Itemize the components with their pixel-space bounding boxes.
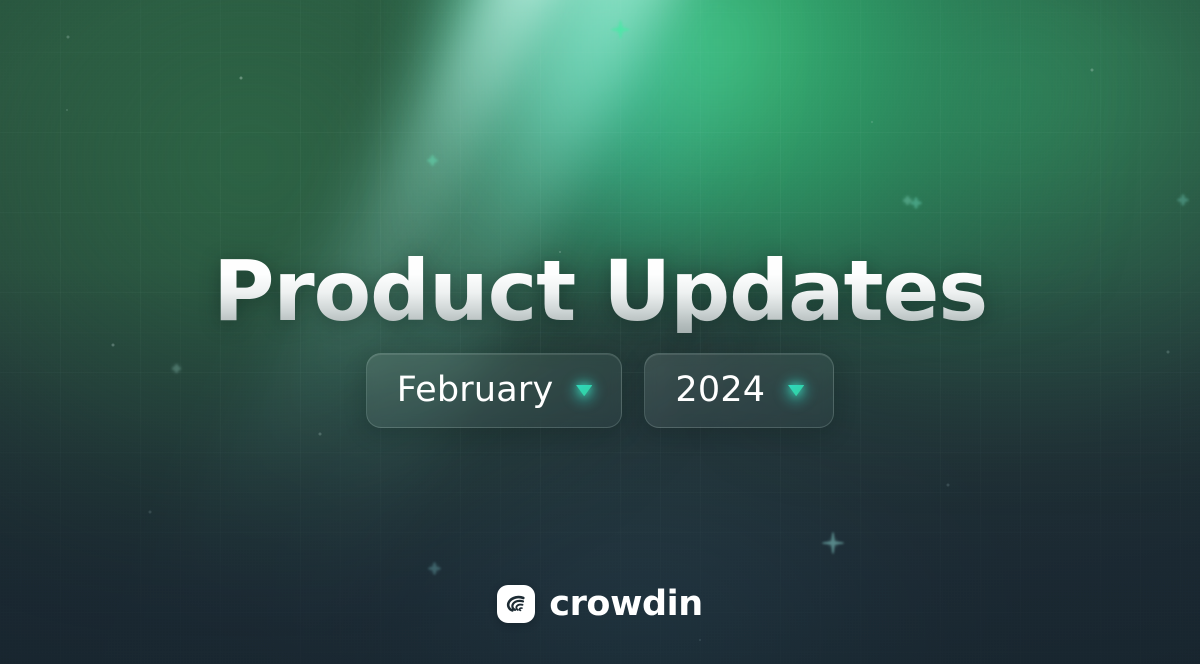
crowdin-wordmark: crowdin bbox=[549, 587, 703, 622]
chevron-triangle bbox=[788, 385, 804, 396]
month-selector[interactable]: February bbox=[366, 353, 623, 428]
chevron-triangle bbox=[576, 385, 592, 396]
chevron-down-icon[interactable] bbox=[569, 376, 599, 406]
year-selector-label: 2024 bbox=[675, 373, 765, 408]
banner-content: Product Updates February 2024 bbox=[0, 0, 1200, 664]
crowdin-logo-icon bbox=[497, 585, 535, 623]
month-selector-label: February bbox=[397, 373, 554, 408]
product-updates-banner: Product Updates February 2024 bbox=[0, 0, 1200, 664]
chevron-down-icon[interactable] bbox=[781, 376, 811, 406]
year-selector[interactable]: 2024 bbox=[644, 353, 834, 428]
page-title: Product Updates bbox=[0, 249, 1200, 333]
date-selector-row: February 2024 bbox=[0, 353, 1200, 428]
crowdin-logo[interactable]: crowdin bbox=[0, 585, 1200, 623]
